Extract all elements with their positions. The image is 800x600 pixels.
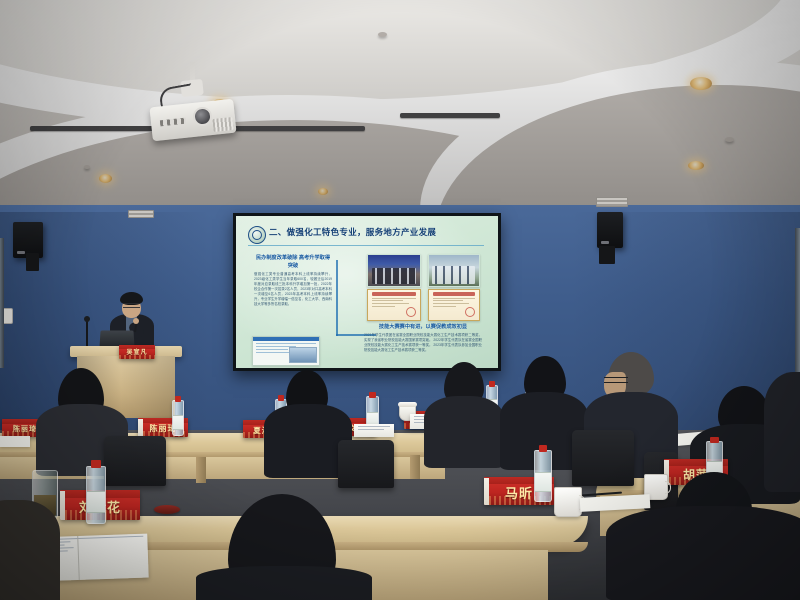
attendee-torso <box>424 396 504 468</box>
certificate-2 <box>428 289 480 321</box>
website-titlebar <box>253 337 319 341</box>
slide-right-section: 技能大赛赛中有进，以赛促教成效初显 2021年学生代表团在省赛全国职业院校技能大… <box>364 323 482 353</box>
slide-right-heading: 技能大赛赛中有进，以赛促教成效初显 <box>364 323 482 331</box>
nameplate-fold <box>138 419 143 437</box>
bottle-cap <box>278 395 284 401</box>
certificate-line <box>372 298 416 299</box>
wall-air-vent-right <box>596 197 628 207</box>
university-emblem-icon <box>248 226 266 244</box>
certificate-1 <box>367 289 421 321</box>
bottle-label <box>173 415 183 429</box>
photo-figures <box>432 266 475 284</box>
certificate-line <box>433 300 463 301</box>
podium-nameplate: 吴宣凡 <box>119 345 155 359</box>
slide-connector-line-v <box>336 260 338 336</box>
side-screen-rail-right <box>795 228 800 378</box>
slide-title-divider <box>248 245 484 246</box>
booklet-spine <box>77 536 80 580</box>
certificate-line <box>372 303 409 304</box>
projection-screen: 二、做强化工特色专业，服务地方产业发展 民办制度改革破除 高考升学取得突破 做强… <box>233 213 501 371</box>
coffee-cup[interactable] <box>554 487 582 517</box>
paper-sheet[interactable] <box>0 436 30 447</box>
website-inset-panel <box>289 347 317 363</box>
projector-vent <box>212 117 233 132</box>
certificate-seal <box>406 307 416 317</box>
podium-microphone <box>86 320 88 348</box>
booklet-line <box>358 426 390 427</box>
certificate-header <box>433 292 475 296</box>
projected-slide: 二、做强化工特色专业，服务地方产业发展 民办制度改革破除 高考升学取得突破 做强… <box>236 216 498 368</box>
presenter-hand <box>133 318 139 324</box>
website-row <box>256 349 288 351</box>
chair-back <box>338 440 394 488</box>
attendee-torso <box>764 372 800 492</box>
certificate-line <box>433 303 469 304</box>
slide-left-heading: 民办制度改革破除 高考升学取得突破 <box>254 254 332 270</box>
conference-room-photo: 二、做强化工特色专业，服务地方产业发展 民办制度改革破除 高考升学取得突破 做强… <box>0 0 800 600</box>
speaker-logo <box>17 251 25 254</box>
nameplate-fold <box>484 478 489 505</box>
nameplate-skyline <box>119 355 155 359</box>
water-bottle[interactable] <box>86 466 106 524</box>
student-group-photo <box>428 254 480 287</box>
chair-back <box>572 430 634 486</box>
website-screenshot <box>252 336 320 366</box>
award-ceremony-photo <box>367 254 421 287</box>
table-leg <box>410 455 420 479</box>
attendee-torso <box>606 506 800 600</box>
certificate-line <box>433 298 475 299</box>
slide-right-body: 2021年学生代表团在省赛全国职业院校技能大赛化工生产技术赛项获二等奖，实现了我… <box>364 333 482 353</box>
bottle-label <box>87 491 105 513</box>
slide-left-body: 做强化工类专业普通高考本科上线率持续攀升，2023级化工类学生当年录取600名，… <box>254 272 332 307</box>
presenter-glasses <box>123 303 140 308</box>
wall-air-vent-left <box>128 210 154 218</box>
certificate-line <box>372 306 395 307</box>
bottle-cap <box>710 437 718 443</box>
attendee-torso <box>196 566 372 600</box>
booklet-line <box>358 429 384 430</box>
bottle-cap <box>91 460 101 468</box>
photo-figures <box>372 268 416 284</box>
table-leg <box>196 457 206 483</box>
bottle-cap <box>489 381 495 387</box>
bottle-cap <box>369 392 375 398</box>
speaker-logo <box>601 241 609 244</box>
certificate-line <box>372 300 403 301</box>
left-speaker-bracket <box>26 253 39 271</box>
water-bottle[interactable] <box>534 450 552 502</box>
slide-title: 二、做强化工特色专业，服务地方产业发展 <box>269 226 484 238</box>
website-row <box>256 343 316 345</box>
right-speaker-bracket <box>599 246 615 264</box>
certificate-header <box>372 292 416 296</box>
certificate-line <box>433 306 456 307</box>
ceiling <box>0 0 800 215</box>
ceiling-shading <box>0 0 800 215</box>
water-bottle[interactable] <box>172 400 184 436</box>
teacup-lid <box>398 402 417 407</box>
red-lid-container[interactable] <box>154 505 180 514</box>
slide-left-section: 民办制度改革破除 高考升学取得突破 做强化工类专业普通高考本科上线率持续攀升，2… <box>254 254 332 307</box>
attendee-glasses <box>604 377 628 383</box>
attendee-torso <box>0 500 60 600</box>
side-screen-rail-left <box>0 238 4 368</box>
certificate-seal <box>465 307 475 317</box>
nameplate-fold <box>60 491 65 520</box>
open-booklet[interactable] <box>354 424 394 437</box>
bottle-label <box>535 472 551 492</box>
bottle-cap <box>175 396 181 402</box>
right-wall-speaker <box>597 212 623 248</box>
bottle-cap <box>539 445 548 452</box>
chair-back <box>104 436 166 486</box>
